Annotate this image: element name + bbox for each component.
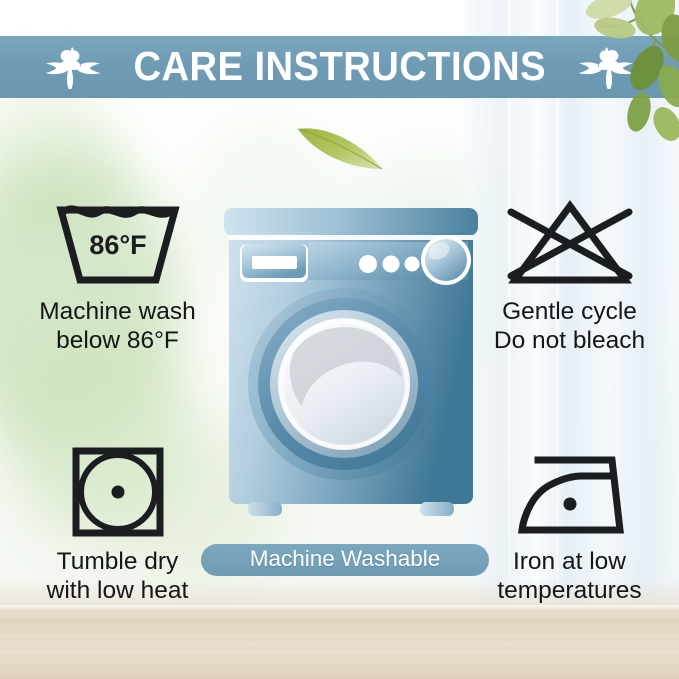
care-symbol-label: Tumble dry with low heat [47,548,189,605]
wash-temperature-text: 86°F [89,230,146,260]
wash-tub-icon: 86°F [51,196,185,288]
machine-lid [224,208,478,236]
fleur-de-lis-icon [42,44,104,90]
care-instructions-infographic: CARE INSTRUCTIONS [0,0,679,679]
care-symbol-iron-low: Iron at low temperatures [462,446,677,605]
fleur-de-lis-icon [575,44,637,90]
machine-door[interactable] [248,288,440,480]
falling-leaf-icon [290,115,390,177]
care-symbol-gentle-cycle-no-bleach: Gentle cycle Do not bleach [462,196,677,355]
care-symbol-machine-wash: 86°F Machine wash below 86°F [10,196,225,355]
program-dial[interactable] [421,235,471,285]
care-symbol-tumble-dry-low: Tumble dry with low heat [10,446,225,605]
machine-foot [420,502,454,516]
triangle-crossed-out-icon [503,196,637,288]
machine-feet [248,502,454,516]
page-title: CARE INSTRUCTIONS [133,46,546,89]
machine-washable-badge: Machine Washable [201,544,489,576]
wooden-table-surface [0,605,679,679]
care-symbol-label: Iron at low temperatures [497,548,641,605]
iron-one-dot-icon [508,446,632,538]
detergent-drawer[interactable] [240,244,308,282]
button-3[interactable] [405,257,420,272]
button-1[interactable] [359,255,377,273]
wood-grain [0,621,679,671]
care-symbol-label: Machine wash below 86°F [39,298,196,355]
header-banner: CARE INSTRUCTIONS [0,36,679,98]
machine-foot [248,502,282,516]
care-symbol-label: Gentle cycle Do not bleach [494,298,645,355]
tumble-dry-one-dot-icon [66,446,170,538]
washing-machine-illustration [222,206,480,528]
control-buttons[interactable] [359,255,420,273]
button-2[interactable] [383,256,400,273]
badge-label: Machine Washable [250,548,441,572]
